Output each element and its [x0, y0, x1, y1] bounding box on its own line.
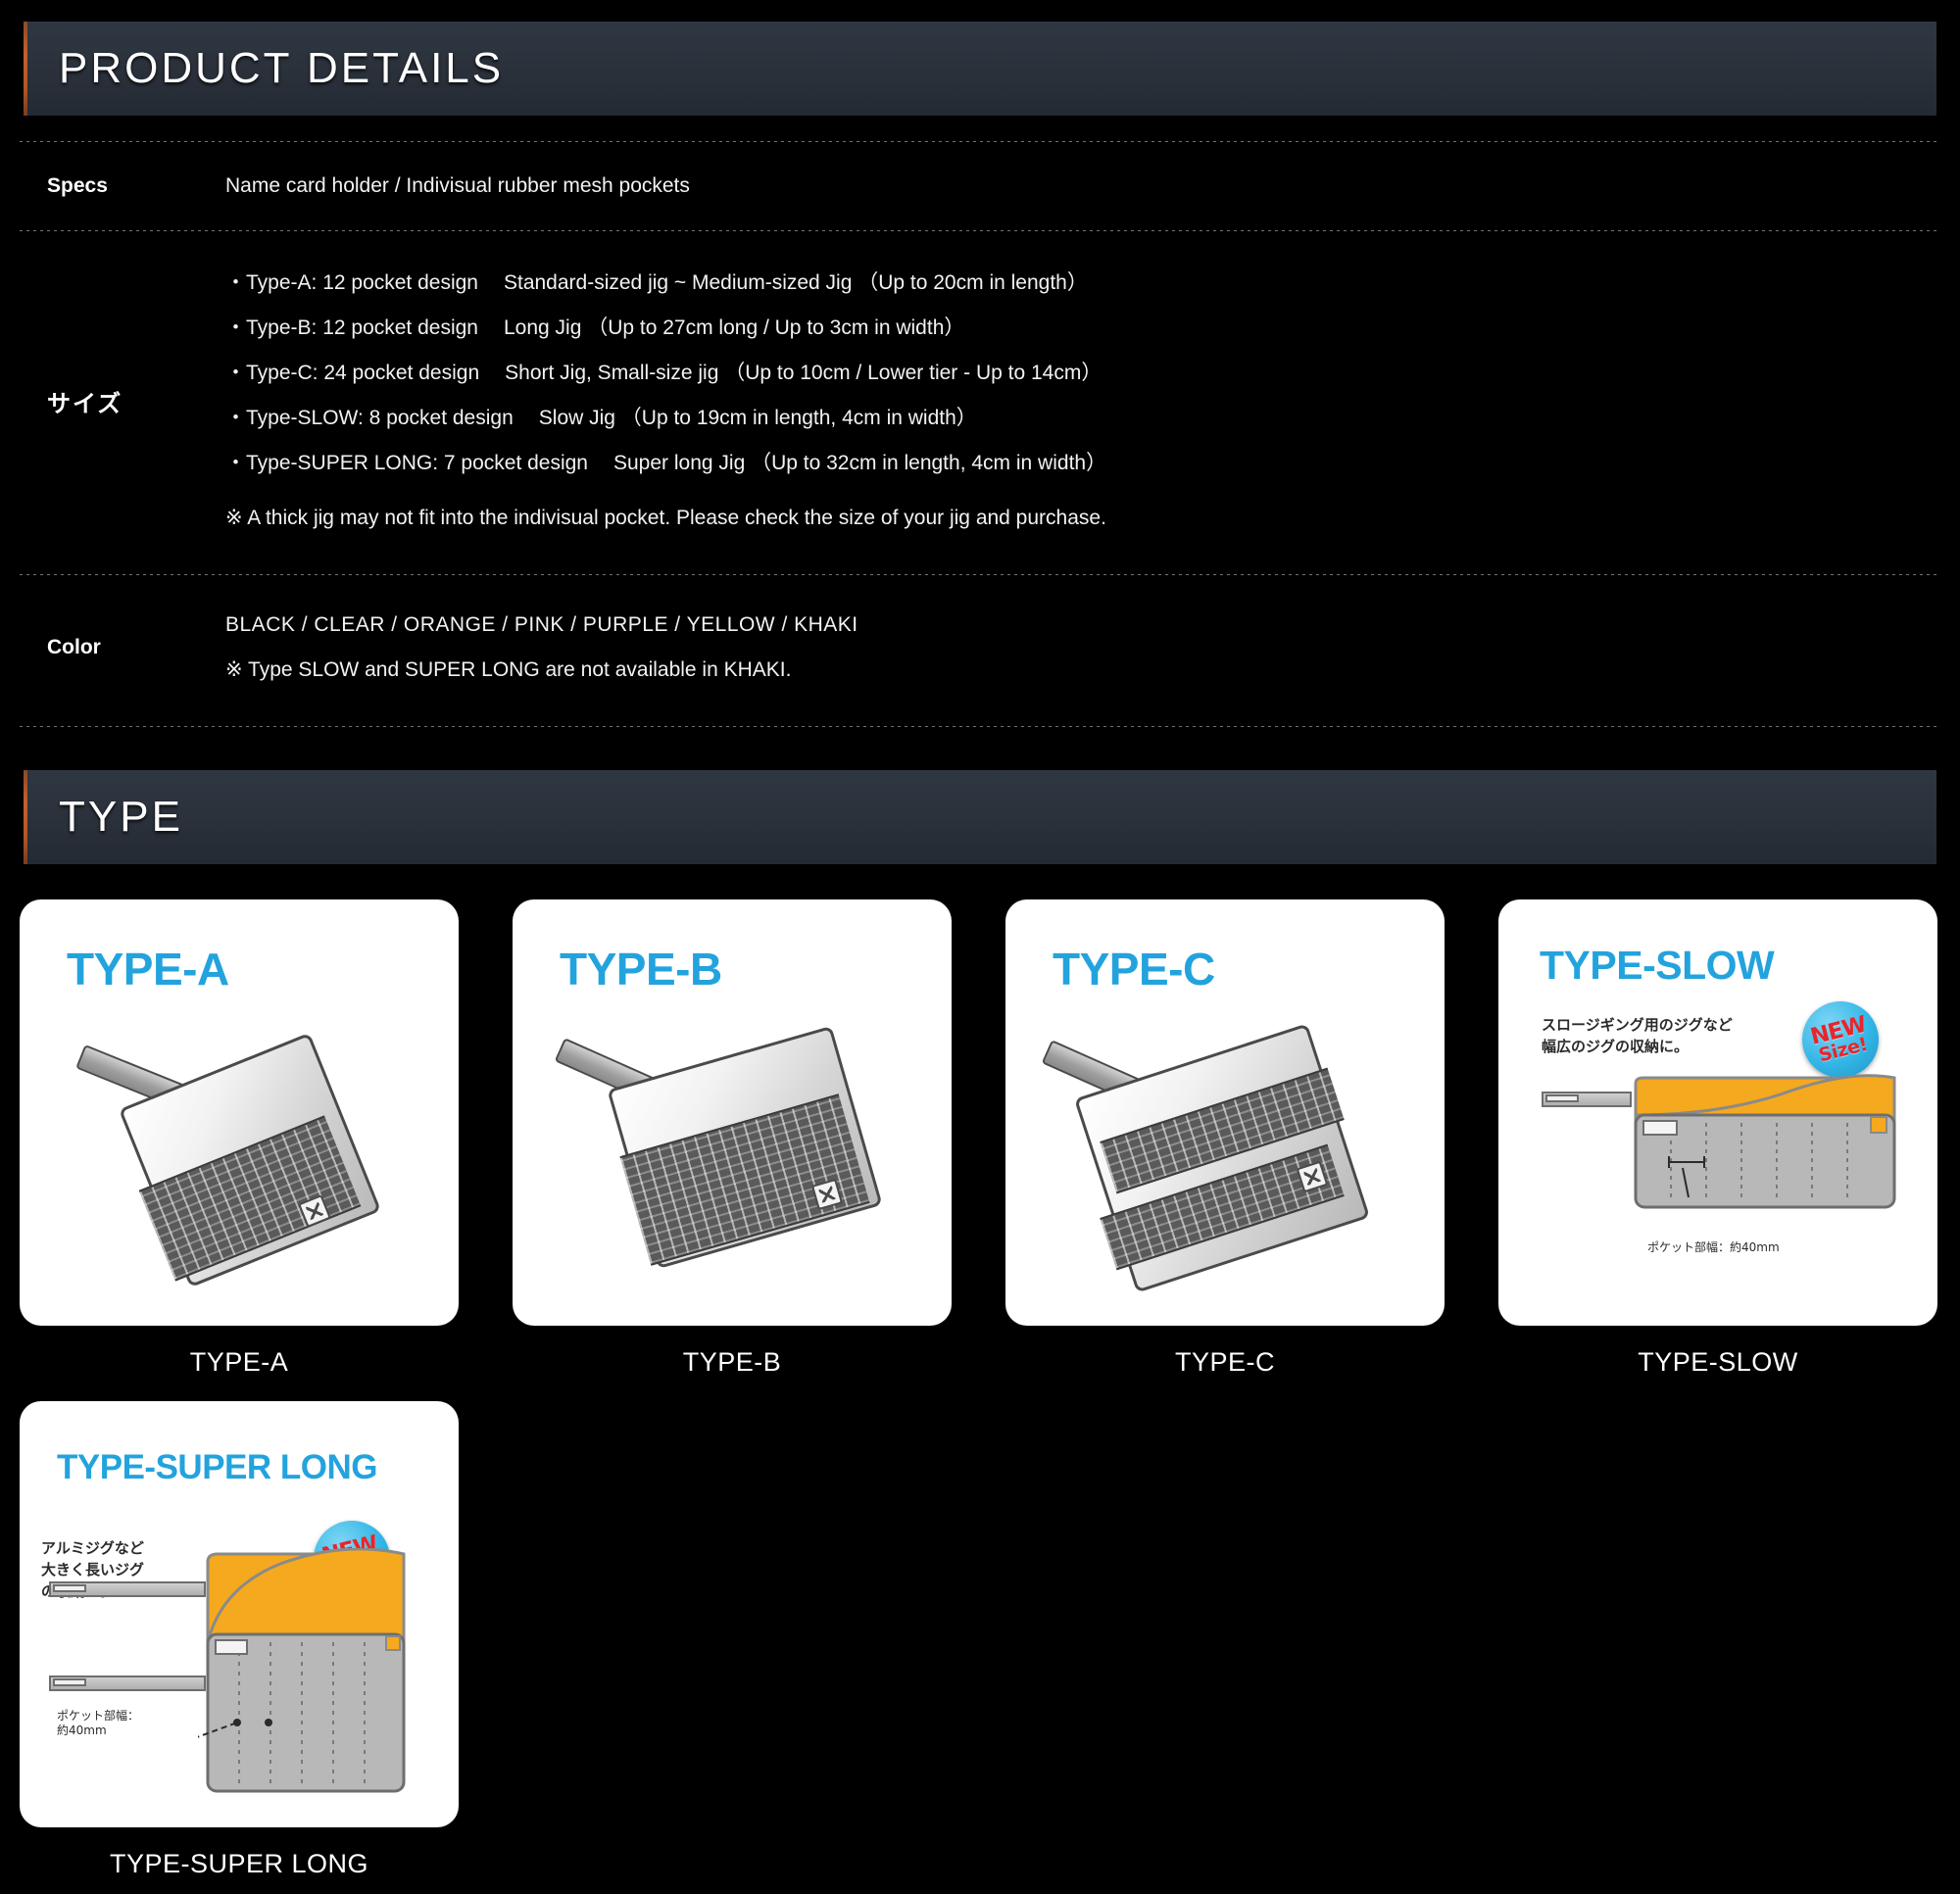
- product-illustration-slow: スロージギング用のジグなど 幅広のジグの収納に。 NEW Size!: [1498, 899, 1937, 1326]
- strap-icon: [1542, 1092, 1632, 1107]
- size-line: ・Type-SUPER LONG: 7 pocket designSuper l…: [225, 441, 1960, 486]
- type-card-grid: TYPE-A TYPE-A TYPE-B: [20, 899, 1940, 1894]
- spec-row-color: Color BLACK / CLEAR / ORANGE / PINK / PU…: [0, 575, 1960, 726]
- flat-case: [1628, 1072, 1902, 1219]
- type-section-title: TYPE: [59, 793, 183, 842]
- type-cell-a: TYPE-A TYPE-A: [20, 899, 459, 1378]
- type-card-b[interactable]: TYPE-B: [513, 899, 952, 1326]
- size-line-desc: Long Jig （Up to 27cm long / Up to 3cm in…: [504, 312, 964, 345]
- type-cell-b: TYPE-B TYPE-B: [513, 899, 952, 1378]
- spec-label-specs: Specs: [0, 174, 225, 198]
- spec-row-specs: Specs Name card holder / Indivisual rubb…: [0, 142, 1960, 230]
- buckle-icon: [53, 1584, 86, 1592]
- section-header-type: TYPE: [24, 770, 1936, 864]
- type-card-a[interactable]: TYPE-A: [20, 899, 459, 1326]
- type-card-super-long[interactable]: TYPE-SUPER LONG アルミジグなど 大きく長いジグ の収納に。 NE…: [20, 1401, 459, 1827]
- case-svg: [198, 1548, 441, 1813]
- size-line-type: ・Type-C: 24 pocket design: [225, 357, 479, 390]
- size-line: ・Type-SLOW: 8 pocket designSlow Jig （Up …: [225, 396, 1960, 441]
- slow-pocket-annotation: ポケット部幅：約40mm: [1647, 1240, 1780, 1255]
- super-long-pocket-annotation: ポケット部幅： 約40mm: [57, 1709, 139, 1738]
- page-title: PRODUCT DETAILS: [59, 44, 504, 93]
- new-size-badge: NEW Size!: [1802, 1001, 1879, 1078]
- size-line-desc: Short Jig, Small-size jig （Up to 10cm / …: [505, 357, 1102, 390]
- size-line: ・Type-A: 12 pocket designStandard-sized …: [225, 261, 1960, 306]
- card-caption-super-long: TYPE-SUPER LONG: [20, 1849, 459, 1879]
- type-cell-slow: TYPE-SLOW スロージギング用のジグなど 幅広のジグの収納に。 NEW S…: [1498, 899, 1937, 1378]
- size-line-type: ・Type-A: 12 pocket design: [225, 267, 478, 300]
- header-accent-bar: [24, 22, 27, 116]
- size-line-type: ・Type-SUPER LONG: 7 pocket design: [225, 447, 588, 480]
- slow-description-jp: スロージギング用のジグなど 幅広のジグの収納に。: [1542, 1015, 1733, 1058]
- size-line-type: ・Type-B: 12 pocket design: [225, 312, 478, 345]
- card-caption-a: TYPE-A: [20, 1347, 459, 1378]
- size-line: ・Type-C: 24 pocket designShort Jig, Smal…: [225, 351, 1960, 396]
- card-caption-b: TYPE-B: [513, 1347, 952, 1378]
- strap-icon-lower: [49, 1675, 206, 1691]
- section-header-product-details: PRODUCT DETAILS: [24, 22, 1936, 116]
- divider: [20, 726, 1940, 727]
- product-details-page: PRODUCT DETAILS Specs Name card holder /…: [0, 22, 1960, 1894]
- card-caption-slow: TYPE-SLOW: [1498, 1347, 1937, 1378]
- color-note: ※ Type SLOW and SUPER LONG are not avail…: [225, 654, 1960, 687]
- case-svg: [1628, 1072, 1902, 1219]
- type-cell-super-long: TYPE-SUPER LONG アルミジグなど 大きく長いジグ の収納に。 NE…: [20, 1401, 459, 1879]
- flat-case: [198, 1548, 441, 1813]
- size-line-type: ・Type-SLOW: 8 pocket design: [225, 402, 514, 435]
- product-illustration-a: [20, 899, 459, 1326]
- type-card-c[interactable]: TYPE-C: [1005, 899, 1445, 1326]
- strap-icon-upper: [49, 1581, 206, 1597]
- spec-value-size: ・Type-A: 12 pocket designStandard-sized …: [225, 261, 1960, 541]
- type-card-slow[interactable]: TYPE-SLOW スロージギング用のジグなど 幅広のジグの収納に。 NEW S…: [1498, 899, 1937, 1326]
- size-line: ・Type-B: 12 pocket designLong Jig （Up to…: [225, 306, 1960, 351]
- product-illustration-c: [1005, 899, 1445, 1326]
- type-cell-c: TYPE-C TYPE-C: [1005, 899, 1445, 1378]
- color-list: BLACK / CLEAR / ORANGE / PINK / PURPLE /…: [225, 608, 1960, 642]
- spec-label-size: サイズ: [0, 384, 225, 418]
- spec-value-color: BLACK / CLEAR / ORANGE / PINK / PURPLE /…: [225, 608, 1960, 687]
- card-caption-c: TYPE-C: [1005, 1347, 1445, 1378]
- product-illustration-b: [513, 899, 952, 1326]
- spec-row-size: サイズ ・Type-A: 12 pocket designStandard-si…: [0, 231, 1960, 574]
- size-line-desc: Standard-sized jig ~ Medium-sized Jig （U…: [504, 267, 1088, 300]
- spec-value-specs: Name card holder / Indivisual rubber mes…: [225, 170, 1960, 203]
- size-note: ※ A thick jig may not fit into the indiv…: [225, 496, 1960, 541]
- size-line-desc: Super long Jig （Up to 32cm in length, 4c…: [613, 447, 1106, 480]
- buckle-icon: [53, 1678, 86, 1686]
- spec-label-color: Color: [0, 636, 225, 659]
- product-illustration-super-long: アルミジグなど 大きく長いジグ の収納に。 NEW Size!: [20, 1401, 459, 1827]
- header-accent-bar: [24, 770, 27, 864]
- buckle-icon: [1545, 1094, 1579, 1102]
- size-line-desc: Slow Jig （Up to 19cm in length, 4cm in w…: [539, 402, 977, 435]
